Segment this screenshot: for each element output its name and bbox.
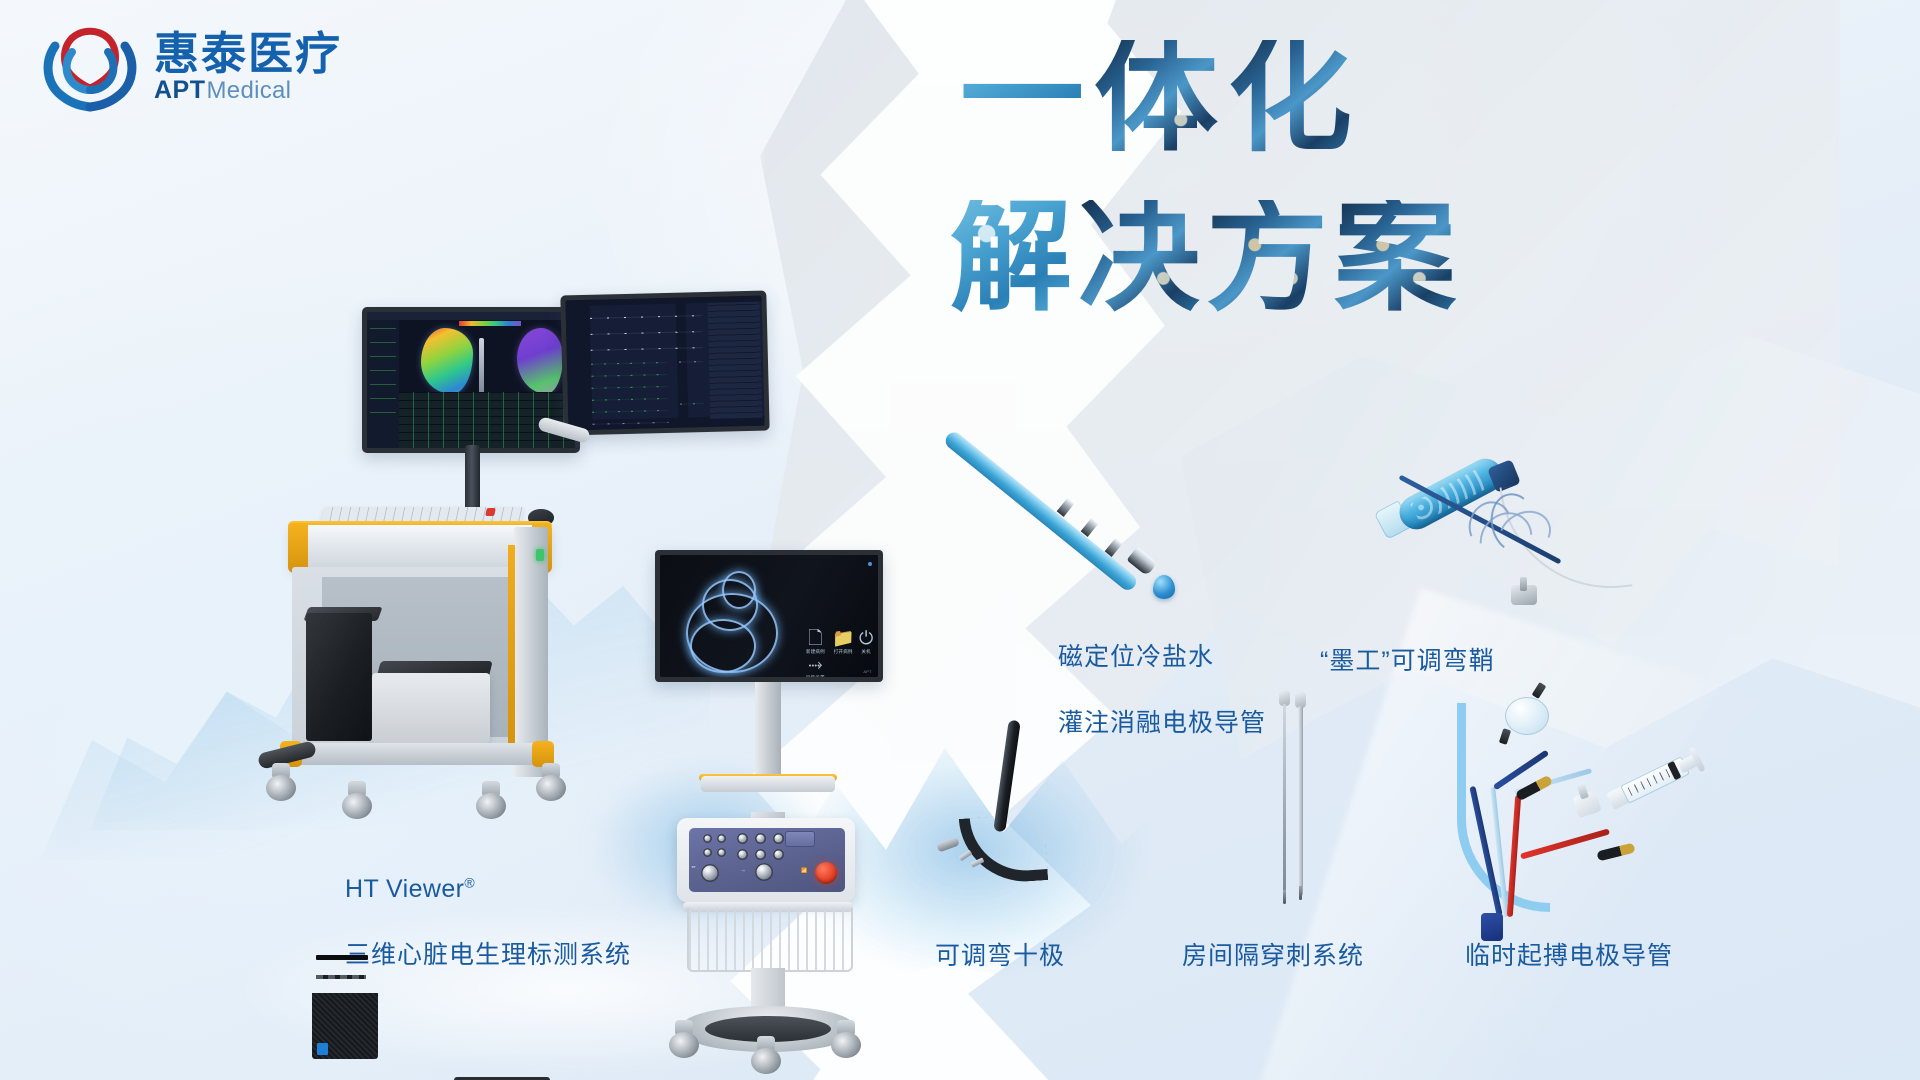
needle-tip (1283, 890, 1286, 904)
generator-port[interactable] (755, 849, 766, 860)
display-cart-caster (751, 1036, 781, 1074)
decapolar-electrode (959, 850, 973, 861)
cart-caster (476, 781, 506, 819)
power-icon[interactable]: ⏻关机 (859, 629, 873, 655)
heart-display-screen-content: 🗋新建病例 📁打开病例 ⏻关机 ⤑导航设置 APT (660, 555, 878, 677)
pc-cpu-badge (317, 1043, 328, 1055)
power-status-led (536, 549, 544, 561)
generator-port[interactable] (773, 833, 784, 844)
cart-caster (342, 781, 372, 819)
brand-name-cn: 惠泰医疗 (154, 31, 342, 76)
ablation-catheter-illustration (975, 435, 1195, 600)
tray-bumper-left (288, 523, 308, 573)
brand-wordmark: 惠泰医疗 APT Medical (154, 31, 342, 103)
generator-display (785, 831, 815, 847)
ep-recording-screen-content (565, 296, 764, 431)
sheath-side-port-hub (1511, 585, 1537, 605)
three-way-stopcock[interactable] (1572, 790, 1602, 818)
chamber-model-anterior (421, 328, 473, 394)
mapping-toolbar (367, 312, 575, 320)
decapolar-deflected-curve (959, 813, 1048, 886)
cart-caster (536, 763, 566, 801)
headline-char-2: 体 (1094, 40, 1218, 154)
ring-electrode (1105, 538, 1123, 557)
chamber-model-posterior (517, 328, 563, 394)
navigation-settings-icon[interactable]: ⤑导航设置 (806, 655, 825, 677)
decapolar-catheter-label: 可调弯十极 (935, 940, 1065, 973)
brand-name-en-bold: APT (154, 78, 206, 103)
cart-post-accent-stripe (508, 545, 515, 745)
cart-base (282, 743, 554, 765)
inflation-balloon (1505, 697, 1549, 735)
cart-caster (266, 763, 296, 801)
parameter-table (708, 302, 763, 419)
lead-connector-red[interactable] (1596, 843, 1635, 862)
transseptal-system-label: 房间隔穿刺系统 (1182, 940, 1364, 973)
headline-char-4: 解 (950, 200, 1072, 312)
voltage-color-bar (459, 321, 521, 326)
generator-port[interactable] (703, 848, 712, 857)
temporary-pacing-catheter-illustration (1455, 675, 1725, 945)
generator-port[interactable] (717, 848, 726, 857)
headline-char-6: 方 (1206, 200, 1328, 312)
display-cart-shelf (701, 776, 835, 792)
dilator-tip (1299, 886, 1302, 900)
pc-tower (306, 613, 372, 741)
catheter-3d-icon (479, 338, 484, 394)
generator-main-port[interactable] (755, 863, 773, 881)
mapping-side-traces (367, 320, 399, 448)
heart-display-screen: 🗋新建病例 📁打开病例 ⏻关机 ⤑导航设置 APT (660, 555, 878, 677)
irrigated-tip-electrode (1127, 547, 1158, 577)
decapolar-tip-electrode (936, 837, 960, 853)
accessory-basket (687, 908, 853, 972)
catheter-proximal-plug (1481, 913, 1503, 941)
generator-ground-port[interactable] (701, 864, 719, 882)
recording-monitor (560, 291, 769, 436)
brand-name-en: APT Medical (154, 78, 342, 103)
display-cart-pole (755, 682, 781, 780)
generator-port[interactable] (737, 833, 748, 844)
cart-right-post (514, 527, 548, 777)
headline-char-5: 决 (1078, 200, 1200, 312)
ablation-catheter-label-line1: 磁定位冷盐水 (1058, 641, 1266, 674)
display-cart-caster (669, 1020, 699, 1058)
headline-calligraphy: 一 体 化 解 决 方 案 (960, 40, 1640, 370)
keyboard-red-key[interactable] (485, 508, 496, 516)
screen-brand-watermark: APT (863, 669, 872, 674)
brand-name-en-light: Medical (207, 79, 292, 103)
display-cart-caster (831, 1020, 861, 1058)
ep-workstation-label: HT Viewer® 三维心脏电生理标测系统 (345, 840, 631, 1005)
recording-monitor-screen (565, 296, 764, 431)
distal-pacing-electrode (1532, 682, 1547, 699)
poster-canvas: 惠泰医疗 APT Medical 一 体 化 解 决 方 案 (0, 0, 1920, 1080)
ep-workstation-name-en-text: HT Viewer (345, 875, 464, 903)
steerable-sheath-illustration (1385, 445, 1675, 625)
brand-logo: 惠泰医疗 APT Medical (42, 22, 342, 112)
new-case-icon[interactable]: 🗋新建病例 (806, 629, 825, 655)
generator-port[interactable] (755, 833, 766, 844)
display-generator-cart: 🗋新建病例 📁打开病例 ⏻关机 ⤑导航设置 APT (655, 550, 915, 1050)
power-icon-label: 关机 (859, 649, 873, 655)
headline-char-7: 案 (1334, 200, 1456, 312)
transseptal-system-illustration (1235, 690, 1345, 920)
generator-port[interactable] (773, 849, 784, 860)
open-case-icon[interactable]: 📁打开病例 (832, 629, 854, 655)
apt-medical-heart-logo-icon (42, 22, 138, 112)
catheter-shaft (942, 429, 1139, 593)
decapolar-catheter-illustration (955, 720, 1075, 880)
generator-emergency-button[interactable] (815, 862, 837, 884)
inflation-syringe (1606, 747, 1704, 812)
laser-printer (372, 673, 490, 743)
ring-electrode (1057, 498, 1075, 517)
ep-workstation-name-cn: 三维心脏电生理标测系统 (345, 939, 631, 972)
heart-display-monitor: 🗋新建病例 📁打开病例 ⏻关机 ⤑导航设置 APT (655, 550, 883, 682)
generator-port[interactable] (717, 834, 726, 843)
generator-port[interactable] (737, 849, 748, 860)
monitor-power-led (868, 562, 872, 566)
ep-workstation-name-en: HT Viewer® (345, 873, 631, 906)
generator-port[interactable] (703, 834, 712, 843)
transseptal-dilator (1298, 706, 1303, 896)
transseptal-needle (1283, 704, 1286, 900)
navigation-settings-icon-label: 导航设置 (806, 675, 825, 677)
glowing-heart-graphic (678, 569, 788, 673)
headline-char-3: 化 (1228, 40, 1352, 154)
trademark-symbol: ® (464, 875, 475, 891)
steerable-sheath-label: “墨工”可调弯鞘 (1320, 645, 1495, 678)
headline-char-1: 一 (960, 40, 1084, 154)
headline-line-1: 一 体 化 (960, 40, 1352, 154)
open-case-icon-label: 打开病例 (832, 649, 854, 655)
temporary-pacing-catheter-label: 临时起搏电极导管 (1465, 940, 1673, 973)
saline-droplet (1153, 575, 1175, 599)
headline-line-2: 解 决 方 案 (950, 200, 1456, 312)
ring-electrode (1081, 518, 1099, 537)
